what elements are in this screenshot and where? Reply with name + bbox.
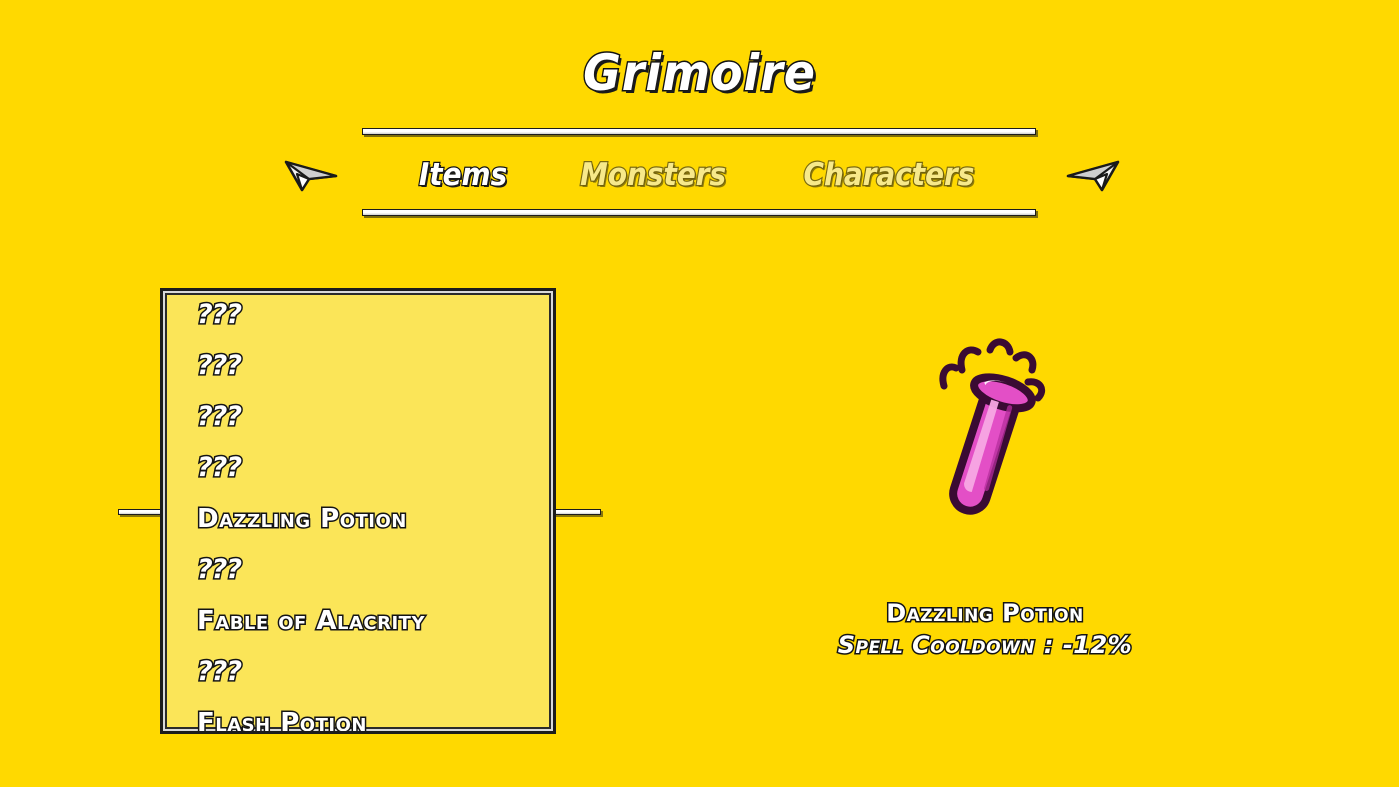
pink-potion-test-tube-icon bbox=[900, 328, 1070, 538]
list-item-dazzling-potion[interactable]: Dazzling Potion bbox=[163, 493, 553, 544]
tab-bar: Items Monsters Characters bbox=[362, 128, 1036, 216]
tab-items[interactable]: Items bbox=[419, 160, 507, 191]
tab-monsters[interactable]: Monsters bbox=[580, 160, 726, 191]
list-item[interactable]: ??? bbox=[163, 391, 553, 442]
item-list: ??? ??? ??? ??? Dazzling Potion ??? Fabl… bbox=[163, 289, 553, 734]
item-detail-pane: Dazzling Potion Spell Cooldown : -12% bbox=[790, 320, 1180, 680]
tab-list: Items Monsters Characters bbox=[362, 148, 1036, 202]
detail-item-name: Dazzling Potion bbox=[790, 600, 1180, 626]
paper-plane-right-icon[interactable] bbox=[1062, 156, 1124, 196]
tab-characters[interactable]: Characters bbox=[804, 160, 975, 191]
list-item-fable-of-alacrity[interactable]: Fable of Alacrity bbox=[163, 595, 553, 646]
list-item[interactable]: ??? bbox=[163, 646, 553, 697]
list-item-flash-potion[interactable]: Flash Potion bbox=[163, 697, 553, 734]
grimoire-screen: Grimoire Items Monsters Characters bbox=[0, 0, 1399, 787]
tabbar-divider-top bbox=[362, 128, 1036, 135]
page-title: Grimoire bbox=[56, 48, 1343, 98]
list-item[interactable]: ??? bbox=[163, 544, 553, 595]
tabbar-divider-bottom bbox=[362, 209, 1036, 216]
detail-item-stat: Spell Cooldown : -12% bbox=[790, 632, 1180, 658]
paper-plane-left-icon[interactable] bbox=[280, 156, 342, 196]
list-item[interactable]: ??? bbox=[163, 340, 553, 391]
list-item[interactable]: ??? bbox=[163, 289, 553, 340]
selection-tick-right bbox=[549, 509, 601, 515]
list-item[interactable]: ??? bbox=[163, 442, 553, 493]
item-list-panel[interactable]: ??? ??? ??? ??? Dazzling Potion ??? Fabl… bbox=[160, 288, 556, 734]
